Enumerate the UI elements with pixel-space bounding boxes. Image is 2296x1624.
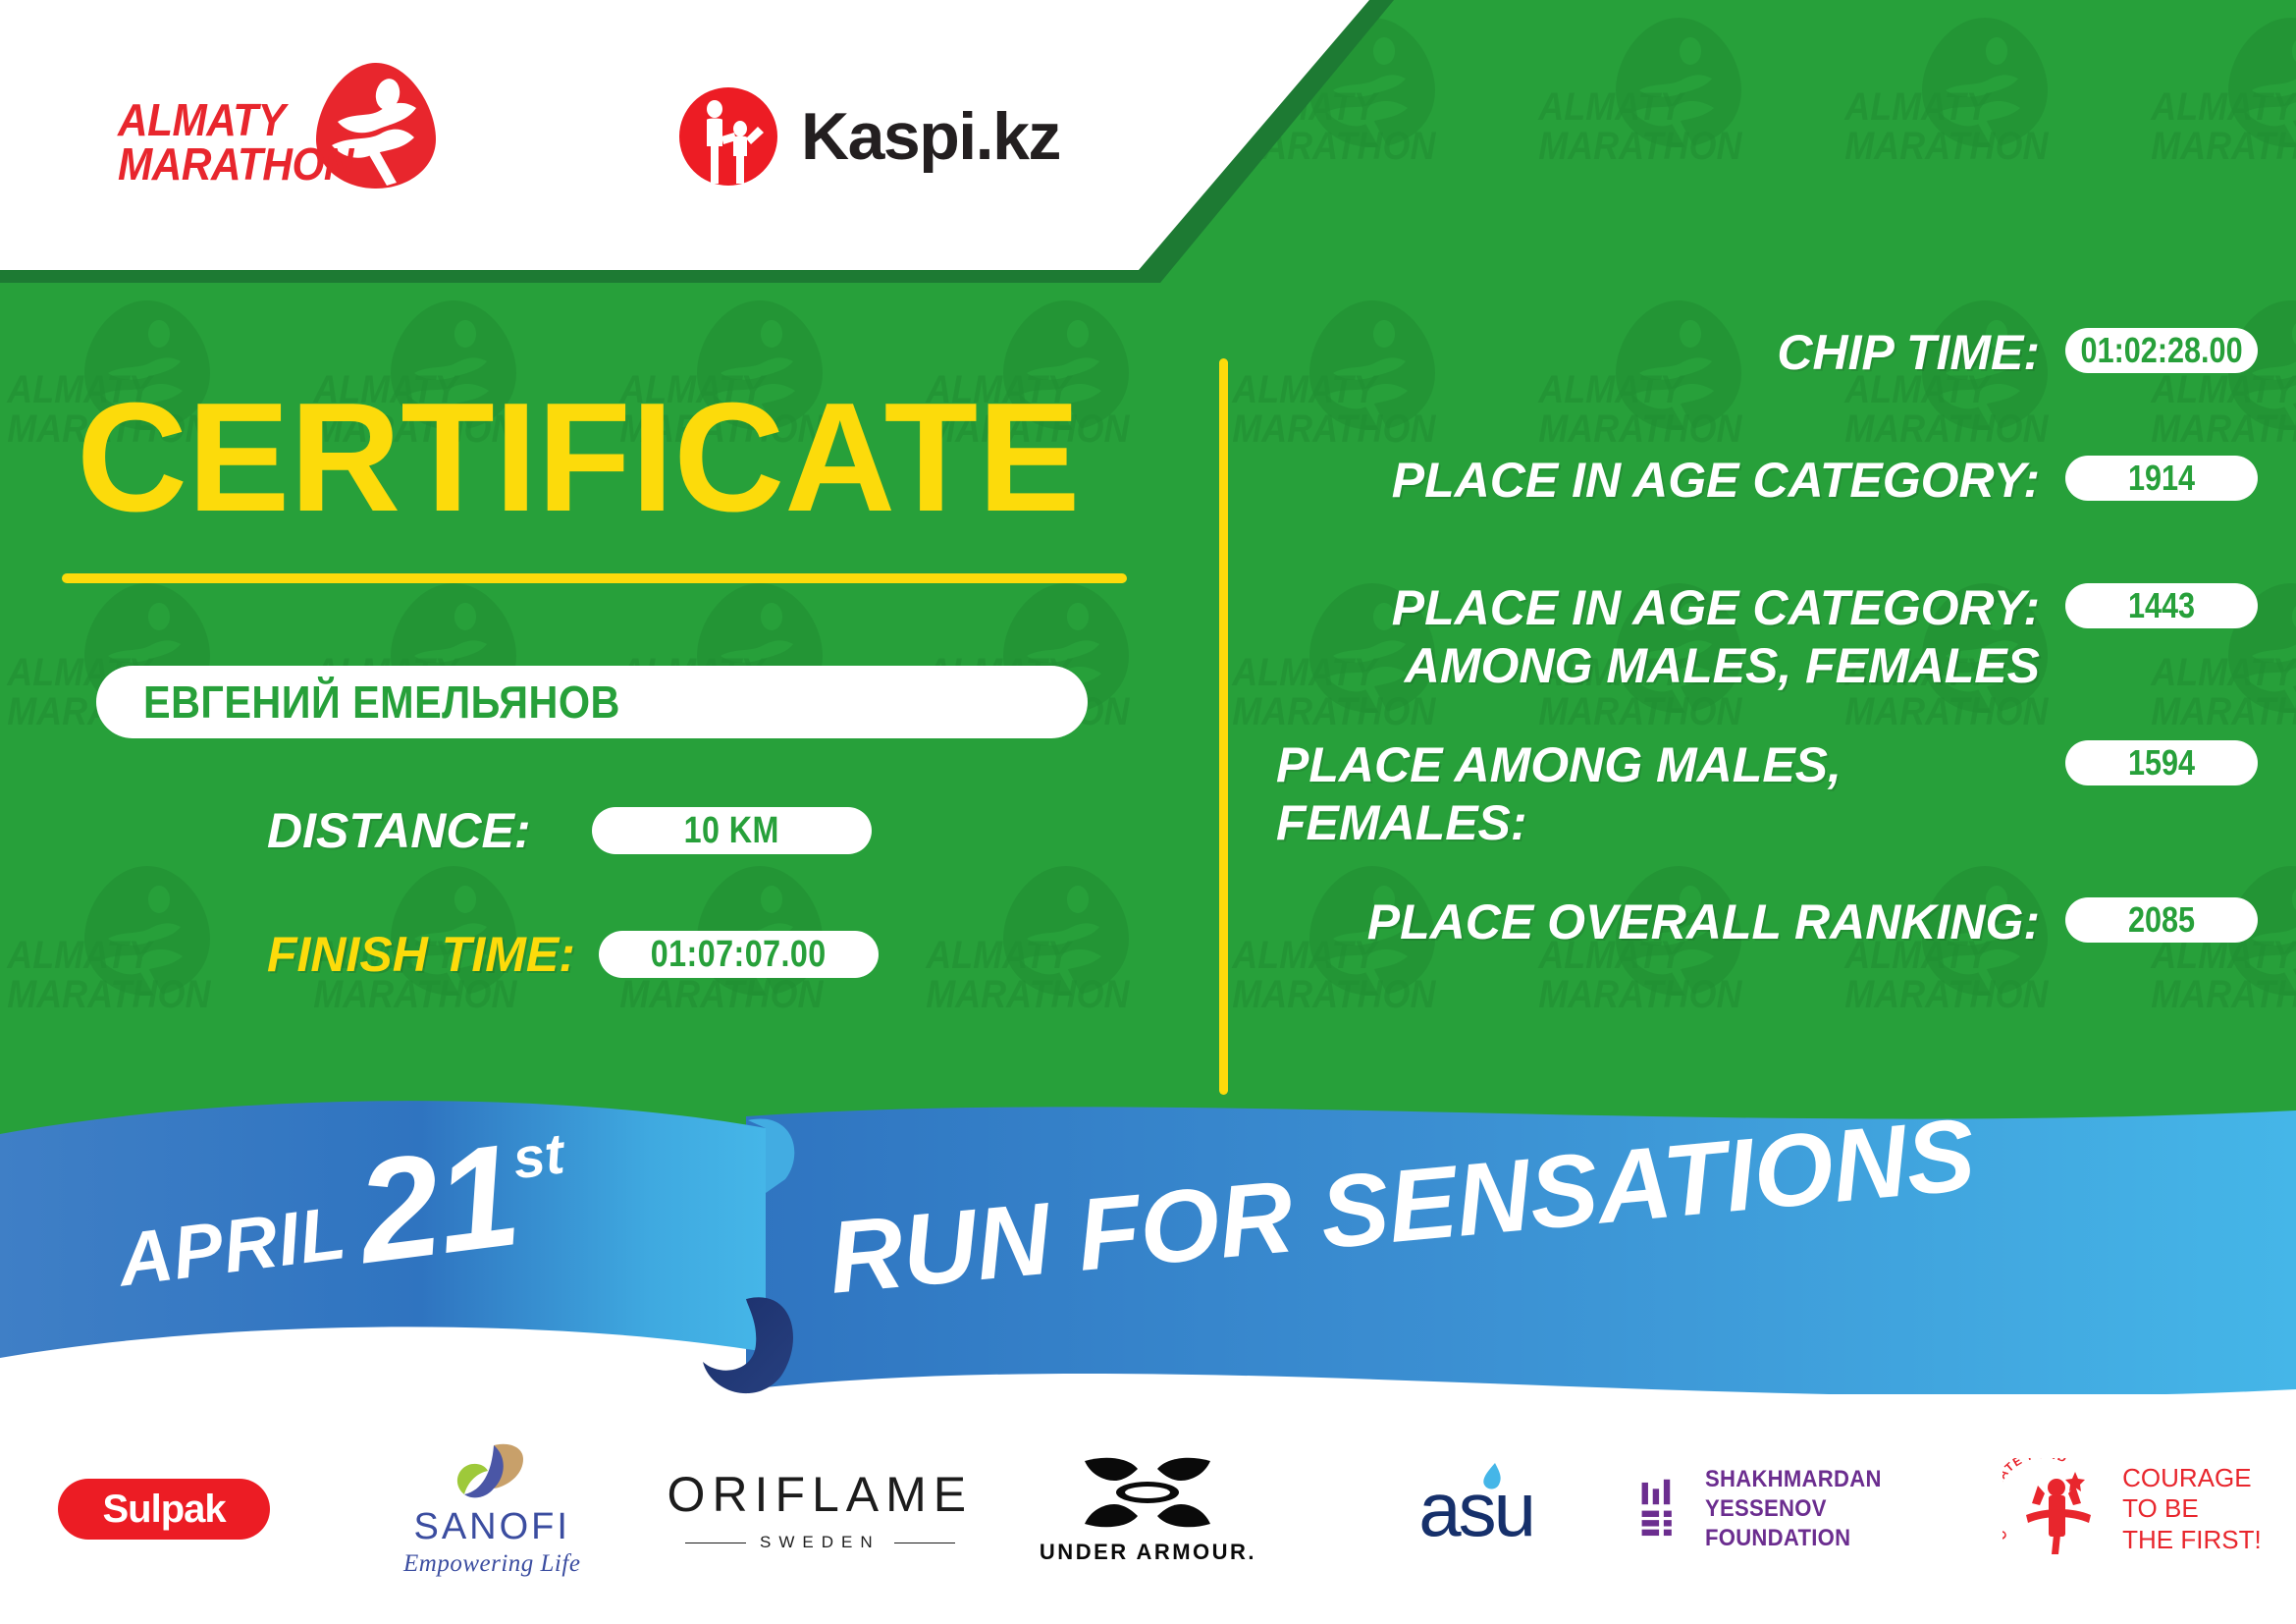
oriflame-rule-right [894,1543,955,1543]
place-among-gender-label: PLACE AMONG MALES, FEMALES: [1276,736,2065,852]
yessenov-wordmark: SHAKHMARDAN YESSENOV FOUNDATION [1705,1465,1947,1553]
ribbon-day: 21 [348,1111,526,1297]
sponsor-yessenov-foundation: SHAKHMARDAN YESSENOV FOUNDATION [1640,1431,1968,1588]
place-age-category-gender-value-pill: 1443 [2065,583,2258,628]
place-overall-ranking-value: 2085 [2128,899,2195,941]
place-overall-ranking-label: PLACE OVERALL RANKING: [1276,893,2065,951]
asu-logo: asu [1418,1465,1533,1554]
certificate-page: ALMATY MARATHON ALMATY MARATHON [0,0,2296,1624]
sanofi-mark-icon [451,1441,533,1504]
sanofi-tagline: Empowering Life [403,1550,580,1578]
oriflame-rule-left [685,1543,746,1543]
place-overall-ranking-row: PLACE OVERALL RANKING: 2085 [1276,893,2258,951]
place-age-category-value: 1914 [2128,458,2195,499]
oriflame-wordmark: ORIFLAME [667,1466,974,1523]
sulpak-logo: Sulpak [58,1479,270,1540]
sponsor-courage-fund: CORPORATE FUND COURAGE TO BE [1968,1431,2296,1588]
sponsor-oriflame: ORIFLAME SWEDEN [656,1431,984,1588]
place-among-gender-label-line1: PLACE AMONG MALES, [1276,736,2040,794]
place-age-category-gender-value: 1443 [2128,585,2195,626]
under-armour-icon [1083,1453,1212,1532]
certificate-title: CERTIFICATE [77,380,1080,535]
almaty-marathon-wordmark: ALMATY MARATHON [118,98,366,187]
oriflame-sub: SWEDEN [685,1533,955,1552]
kaspi-people-icon [677,85,779,188]
chip-time-value: 01:02:28.00 [2080,330,2242,371]
distance-label: DISTANCE: [267,802,531,859]
chip-time-label: CHIP TIME: [1276,324,2065,382]
oriflame-sweden-text: SWEDEN [760,1533,881,1552]
under-armour-wordmark: UNDER ARMOUR. [1040,1540,1256,1565]
distance-row: DISTANCE: 10 KM [267,802,872,859]
asu-droplet-icon [1479,1461,1505,1492]
place-among-gender-value: 1594 [2128,742,2195,784]
asu-wordmark: asu [1418,1466,1533,1552]
sponsor-sanofi: SANOFI Empowering Life [328,1431,656,1588]
place-overall-ranking-value-pill: 2085 [2065,897,2258,943]
place-age-category-gender-label-line2: AMONG MALES, FEMALES [1276,637,2040,695]
participant-name-value: ЕВГЕНИЙ ЕМЕЛЬЯНОВ [143,676,620,729]
sanofi-wordmark: SANOFI [413,1506,569,1548]
distance-value-pill: 10 KM [592,807,872,854]
sponsor-under-armour: UNDER ARMOUR. [984,1431,1311,1588]
place-age-category-gender-label-line1: PLACE IN AGE CATEGORY: [1276,579,2040,637]
courage-line3: THE FIRST! [2122,1525,2262,1555]
place-age-category-label: PLACE IN AGE CATEGORY: [1276,452,2065,510]
sulpak-wordmark: Sulpak [102,1488,225,1532]
almaty-marathon-logo: ALMATY MARATHON [118,61,442,198]
place-age-category-value-pill: 1914 [2065,456,2258,501]
yessenov-line2: FOUNDATION [1705,1524,1947,1553]
title-divider [62,573,1127,583]
finish-time-row: FINISH TIME: 01:07:07.00 [267,926,879,983]
courage-wordmark: COURAGE TO BE THE FIRST! [2122,1463,2262,1555]
yessenov-mark-icon [1640,1470,1684,1548]
place-among-gender-value-pill: 1594 [2065,740,2258,785]
place-age-category-row: PLACE IN AGE CATEGORY: 1914 [1276,452,2258,510]
sponsor-sulpak: Sulpak [0,1431,328,1588]
under-armour-logo: UNDER ARMOUR. [1040,1453,1256,1565]
distance-value: 10 KM [683,810,778,852]
almaty-wordmark-line1: ALMATY [118,98,366,142]
place-among-gender-row: PLACE AMONG MALES, FEMALES: 1594 [1276,736,2258,852]
place-age-category-gender-label: PLACE IN AGE CATEGORY: AMONG MALES, FEMA… [1276,579,2065,695]
event-ribbon: APRIL 21 st RUN FOR SENSATIONS [0,1095,2296,1409]
header-corner-curve [1060,211,1237,329]
finish-time-label: FINISH TIME: [267,926,575,983]
finish-time-value: 01:07:07.00 [651,934,827,976]
chip-time-value-pill: 01:02:28.00 [2065,328,2258,373]
courage-runner-icon: CORPORATE FUND [2002,1458,2110,1560]
yessenov-logo: SHAKHMARDAN YESSENOV FOUNDATION [1640,1465,1968,1553]
ribbon-ordinal: st [509,1120,568,1192]
column-divider [1219,358,1228,1095]
participant-name-field: ЕВГЕНИЙ ЕМЕЛЬЯНОВ [96,666,1088,738]
sponsor-asu: asu [1312,1431,1640,1588]
almaty-wordmark-line2: MARATHON [118,142,366,187]
sponsor-bar: Sulpak SANOFI Empowering Life ORIFLAME S… [0,1394,2296,1624]
right-column: CHIP TIME: 01:02:28.00 PLACE IN AGE CATE… [1276,324,2258,1110]
oriflame-logo: ORIFLAME SWEDEN [667,1466,974,1552]
courage-line1: COURAGE [2122,1463,2262,1493]
chip-time-row: CHIP TIME: 01:02:28.00 [1276,324,2258,382]
courage-line2: TO BE [2122,1493,2262,1524]
sanofi-logo: SANOFI Empowering Life [403,1441,580,1578]
finish-time-value-pill: 01:07:07.00 [599,931,879,978]
kaspi-wordmark: Kaspi.kz [801,98,1060,175]
left-column: CERTIFICATE ЕВГЕНИЙ ЕМЕЛЬЯНОВ DISTANCE: … [0,324,1188,1129]
place-among-gender-label-line2: FEMALES: [1276,794,2040,852]
kaspi-logo: Kaspi.kz [677,82,1090,190]
courage-logo: CORPORATE FUND COURAGE TO BE [2002,1458,2262,1560]
ribbon-month: APRIL [114,1190,351,1304]
yessenov-line1: SHAKHMARDAN YESSENOV [1705,1465,1947,1524]
place-age-category-gender-row: PLACE IN AGE CATEGORY: AMONG MALES, FEMA… [1276,579,2258,695]
